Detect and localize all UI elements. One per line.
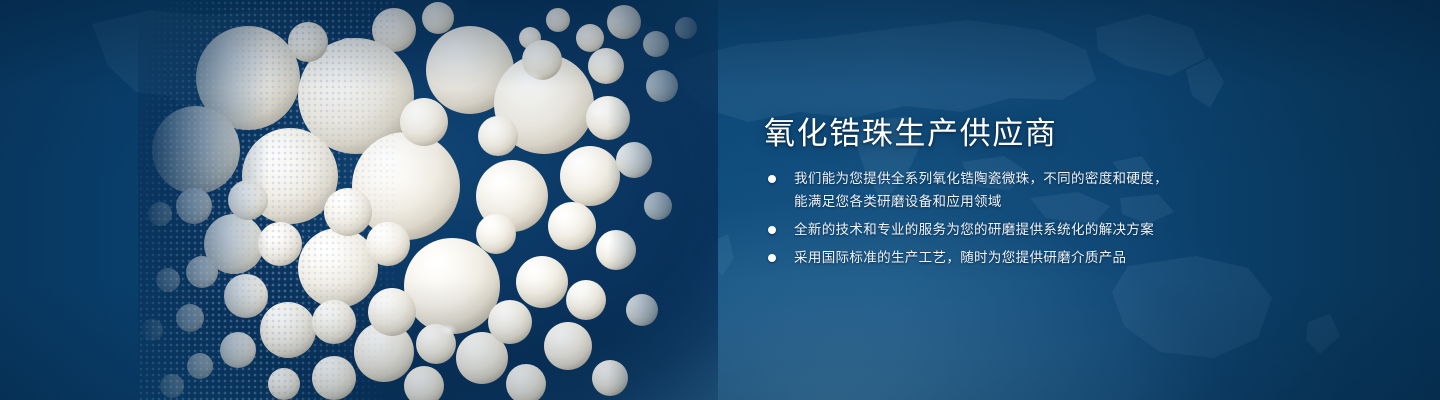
bullet-text-line: 采用国际标准的生产工艺，随时为您提供研磨介质产品: [794, 247, 1324, 270]
banner-content: 氧化锆珠生产供应商 我们能为您提供全系列氧化锆陶瓷微珠，不同的密度和硬度， 能满…: [764, 0, 1324, 400]
list-item: 我们能为您提供全系列氧化锆陶瓷微珠，不同的密度和硬度， 能满足您各类研磨设备和应…: [768, 168, 1324, 214]
bullet-text-line: 能满足您各类研磨设备和应用领域: [794, 191, 1324, 214]
list-item: 采用国际标准的生产工艺，随时为您提供研磨介质产品: [768, 247, 1324, 270]
bullet-dot-icon: [768, 254, 776, 262]
hero-banner: 氧化锆珠生产供应商 我们能为您提供全系列氧化锆陶瓷微珠，不同的密度和硬度， 能满…: [0, 0, 1440, 400]
bullet-text-line: 全新的技术和专业的服务为您的研磨提供系统化的解决方案: [794, 219, 1324, 242]
banner-bullet-list: 我们能为您提供全系列氧化锆陶瓷微珠，不同的密度和硬度， 能满足您各类研磨设备和应…: [768, 168, 1324, 275]
bullet-dot-icon: [768, 226, 776, 234]
bullet-text-line: 我们能为您提供全系列氧化锆陶瓷微珠，不同的密度和硬度，: [794, 168, 1324, 191]
banner-headline: 氧化锆珠生产供应商: [764, 108, 1057, 153]
bullet-dot-icon: [768, 175, 776, 183]
list-item: 全新的技术和专业的服务为您的研磨提供系统化的解决方案: [768, 219, 1324, 242]
